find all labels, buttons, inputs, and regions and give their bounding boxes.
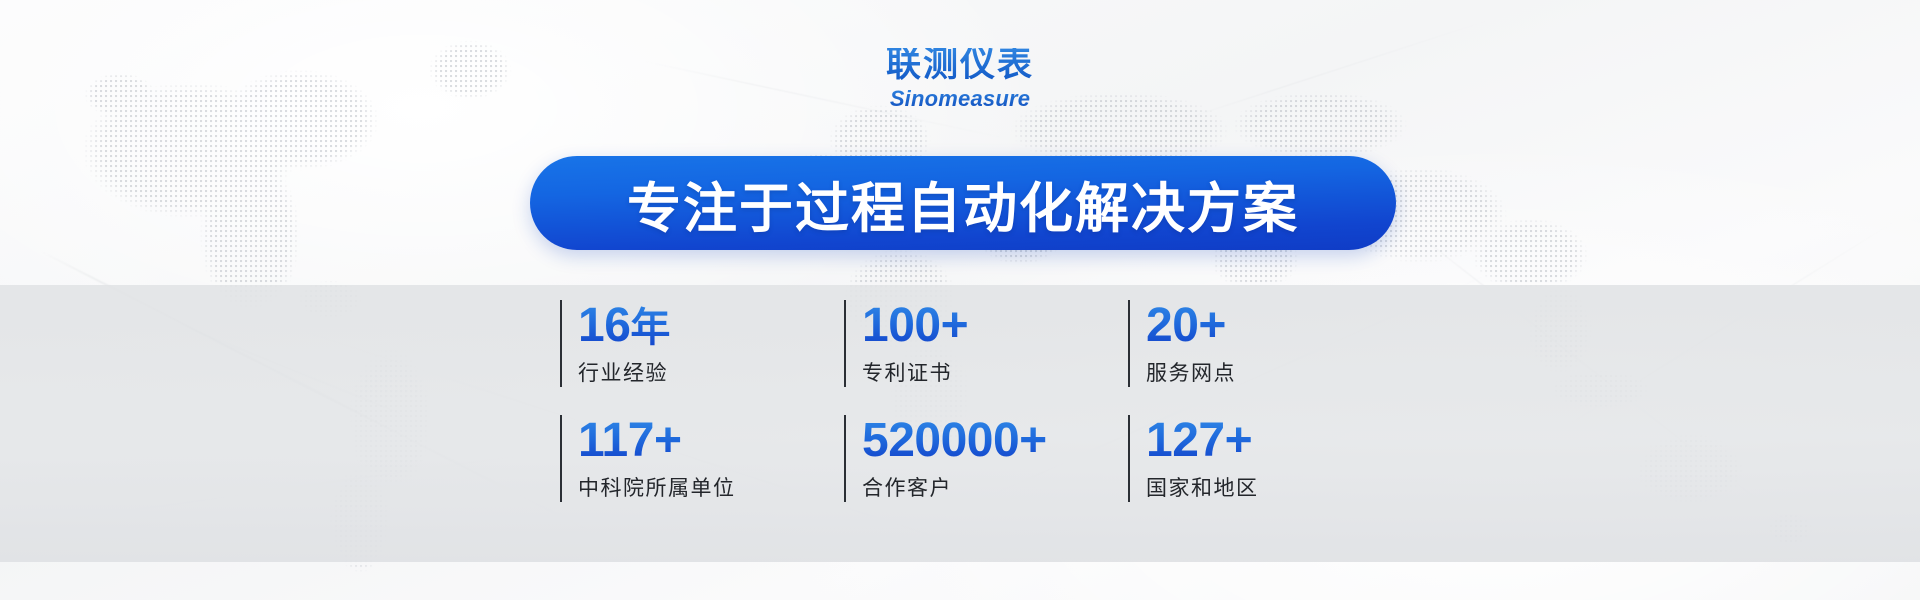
- stat-content: 20+ 服务网点: [1146, 300, 1236, 387]
- stat-number: 100+: [862, 299, 968, 352]
- stat-item-patents: 100+ 专利证书: [844, 300, 1128, 387]
- stat-item-cas-units: 117+ 中科院所属单位: [560, 415, 844, 502]
- stat-unit: 年: [630, 305, 670, 351]
- headline-text: 专注于过程自动化解决方案: [627, 164, 1299, 243]
- stat-label: 行业经验: [578, 357, 670, 387]
- stat-label: 服务网点: [1146, 357, 1236, 387]
- stat-item-years: 16年 行业经验: [560, 300, 844, 387]
- stat-content: 117+ 中科院所属单位: [578, 415, 736, 502]
- stat-item-service-points: 20+ 服务网点: [1128, 300, 1360, 387]
- promo-banner: 联测仪表 Sinomeasure 专注于过程自动化解决方案 16年 行业经验 1…: [0, 0, 1920, 600]
- stat-content: 127+ 国家和地区: [1146, 415, 1259, 502]
- stats-row-2: 117+ 中科院所属单位 520000+ 合作客户 127+ 国家和地区: [560, 415, 1360, 502]
- brand-name-cn: 联测仪表: [886, 48, 1034, 83]
- stat-divider-bar: [560, 415, 562, 502]
- stat-content: 520000+ 合作客户: [862, 415, 1047, 502]
- stat-value: 127+: [1146, 417, 1259, 466]
- stat-divider-bar: [1128, 415, 1130, 502]
- stat-number: 127+: [1146, 414, 1252, 467]
- stat-item-customers: 520000+ 合作客户: [844, 415, 1128, 502]
- stat-value: 16年: [578, 302, 670, 351]
- stat-divider-bar: [844, 300, 846, 387]
- stat-item-countries: 127+ 国家和地区: [1128, 415, 1360, 502]
- brand-name-en: Sinomeasure: [0, 88, 1920, 110]
- stats-grid: 16年 行业经验 100+ 专利证书 20+ 服务网点: [560, 300, 1360, 502]
- stat-value: 100+: [862, 302, 968, 351]
- stat-content: 16年 行业经验: [578, 300, 670, 387]
- stats-row-1: 16年 行业经验 100+ 专利证书 20+ 服务网点: [560, 300, 1360, 387]
- stat-content: 100+ 专利证书: [862, 300, 968, 387]
- stat-label: 中科院所属单位: [578, 472, 736, 502]
- stat-value: 520000+: [862, 417, 1047, 466]
- stat-label: 合作客户: [862, 472, 1047, 502]
- stat-divider-bar: [1128, 300, 1130, 387]
- stat-value: 20+: [1146, 302, 1236, 351]
- stat-number: 520000+: [862, 414, 1047, 467]
- stat-number: 117+: [578, 414, 681, 467]
- stat-value: 117+: [578, 417, 736, 466]
- stat-label: 专利证书: [862, 357, 968, 387]
- stat-number: 20+: [1146, 299, 1226, 352]
- stat-divider-bar: [844, 415, 846, 502]
- stat-divider-bar: [560, 300, 562, 387]
- brand-logo: 联测仪表 Sinomeasure: [0, 48, 1920, 110]
- headline-pill: 专注于过程自动化解决方案: [530, 156, 1396, 250]
- stat-label: 国家和地区: [1146, 472, 1259, 502]
- stat-number: 16: [578, 299, 630, 352]
